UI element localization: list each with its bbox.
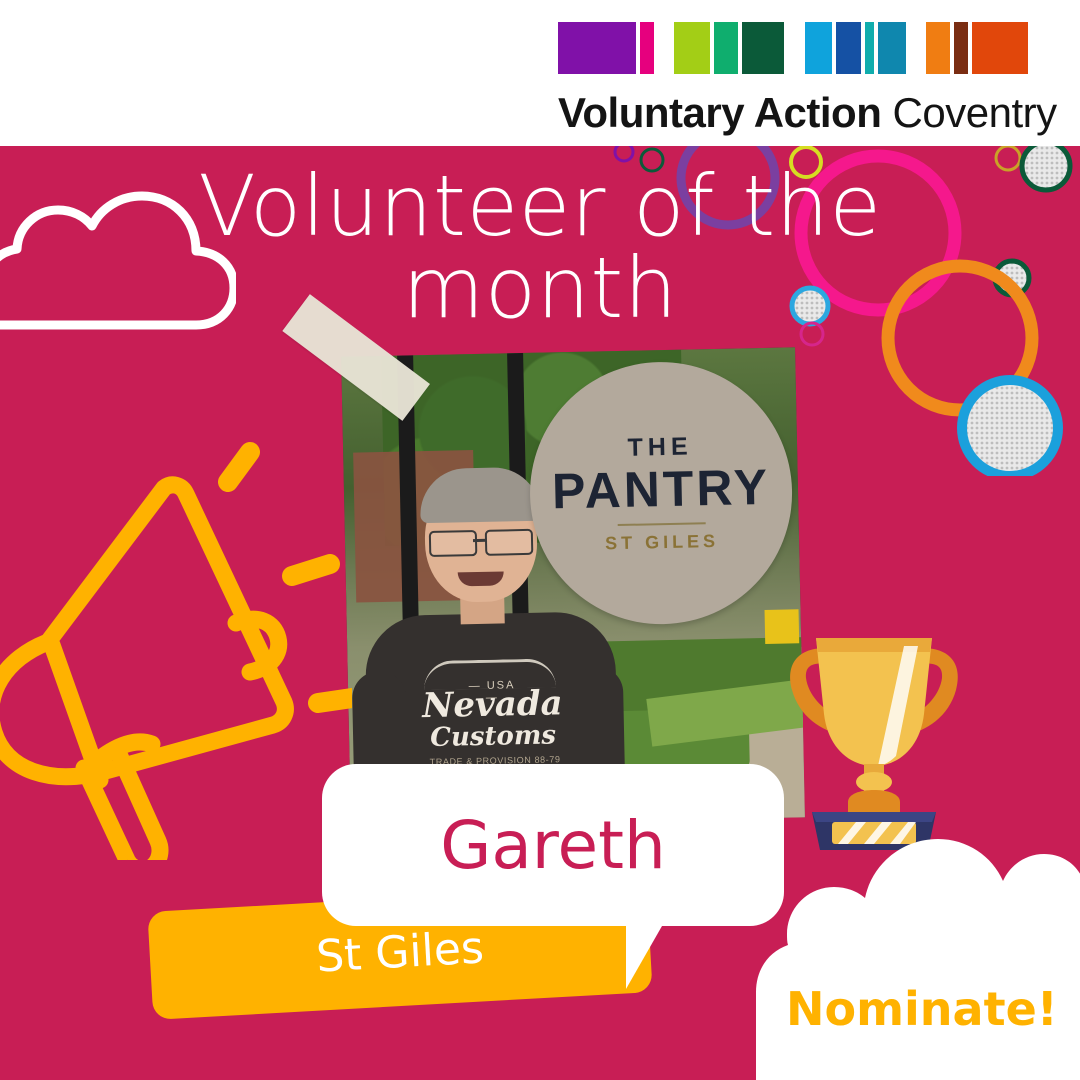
logo-bar-group (926, 22, 1028, 74)
sign-divider (618, 522, 706, 526)
logo-color-bars (558, 22, 1028, 74)
logo-bar (865, 22, 874, 74)
logo-bar-group (805, 22, 906, 74)
logo-bar (972, 22, 1028, 74)
logo-bar-gap (906, 22, 926, 74)
logo-bar (558, 22, 636, 74)
logo-bar (714, 22, 738, 74)
logo-bar-group (558, 22, 654, 74)
logo-bar (926, 22, 950, 74)
trophy-icon (786, 606, 962, 856)
header-band: Voluntary Action Coventry (0, 0, 1080, 146)
logo-bar (836, 22, 861, 74)
logo-bar (742, 22, 784, 74)
logo-bar-gap (784, 22, 804, 74)
glasses-lens-left (429, 530, 478, 557)
va-coventry-logo: Voluntary Action Coventry (558, 22, 1028, 134)
volunteer-name: Gareth (322, 764, 784, 926)
sign-line-the: THE (627, 432, 693, 462)
logo-bar (954, 22, 968, 74)
poster-canvas: Volunteer of the month (0, 0, 1080, 1080)
nominate-label[interactable]: Nominate! (786, 982, 1056, 1036)
megaphone-icon (0, 440, 352, 860)
logo-wordmark-bold: Voluntary Action (558, 89, 881, 136)
person-glasses (427, 529, 535, 553)
tshirt-brand-line1: Nevada (412, 688, 573, 723)
nominate-cloud[interactable] (756, 836, 1080, 1080)
volunteer-photo: — USA — Nevada Customs TRADE & PROVISION… (341, 347, 805, 826)
person-hair (419, 467, 540, 524)
glasses-lens-right (485, 529, 534, 556)
sign-line-stgiles: ST GILES (605, 531, 719, 554)
logo-bar (640, 22, 654, 74)
logo-bar-group (674, 22, 784, 74)
logo-bar (878, 22, 906, 74)
logo-bar-gap (654, 22, 674, 74)
logo-wordmark: Voluntary Action Coventry (558, 92, 1028, 134)
logo-bar (805, 22, 832, 74)
logo-wordmark-light: Coventry (893, 89, 1057, 136)
photo-content: — USA — Nevada Customs TRADE & PROVISION… (341, 347, 805, 826)
page-title: Volunteer of the month (190, 165, 890, 330)
sign-line-pantry: PANTRY (551, 462, 770, 517)
logo-bar (674, 22, 710, 74)
tshirt-brand-line2: Customs (413, 722, 574, 751)
